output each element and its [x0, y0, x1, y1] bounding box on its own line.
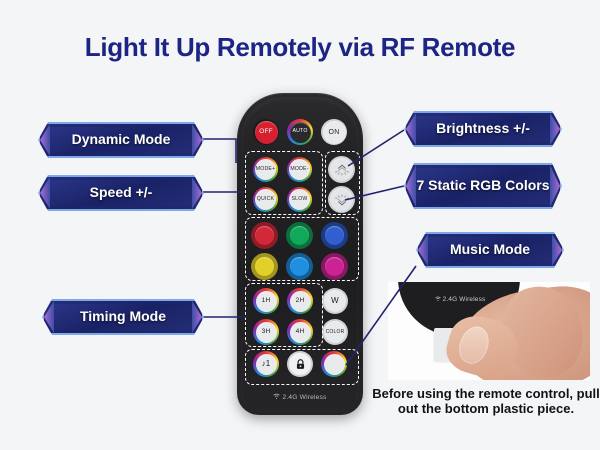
callout-speed[interactable]: Speed +/-: [38, 175, 204, 211]
callout-label: Dynamic Mode: [72, 132, 171, 148]
line-brightness: [348, 130, 404, 166]
callout-connector-lines: [0, 0, 600, 450]
callout-label: Speed +/-: [90, 185, 153, 201]
callout-music-mode[interactable]: Music Mode: [416, 232, 564, 268]
callout-timing-mode[interactable]: Timing Mode: [42, 299, 204, 335]
callout-label: 7 Static RGB Colors: [416, 178, 549, 194]
line-static-rgb: [345, 186, 404, 200]
screenshot-root: Light It Up Remotely via RF Remote Dynam…: [0, 0, 600, 450]
line-dynamic-mode: [202, 139, 236, 163]
callout-dynamic-mode[interactable]: Dynamic Mode: [38, 122, 204, 158]
callout-static-rgb[interactable]: 7 Static RGB Colors: [404, 163, 562, 209]
callout-label: Music Mode: [450, 242, 530, 258]
callout-label: Brightness +/-: [436, 121, 530, 137]
callout-label: Timing Mode: [80, 309, 166, 325]
line-music-mode: [346, 266, 416, 365]
callout-brightness[interactable]: Brightness +/-: [404, 111, 562, 147]
